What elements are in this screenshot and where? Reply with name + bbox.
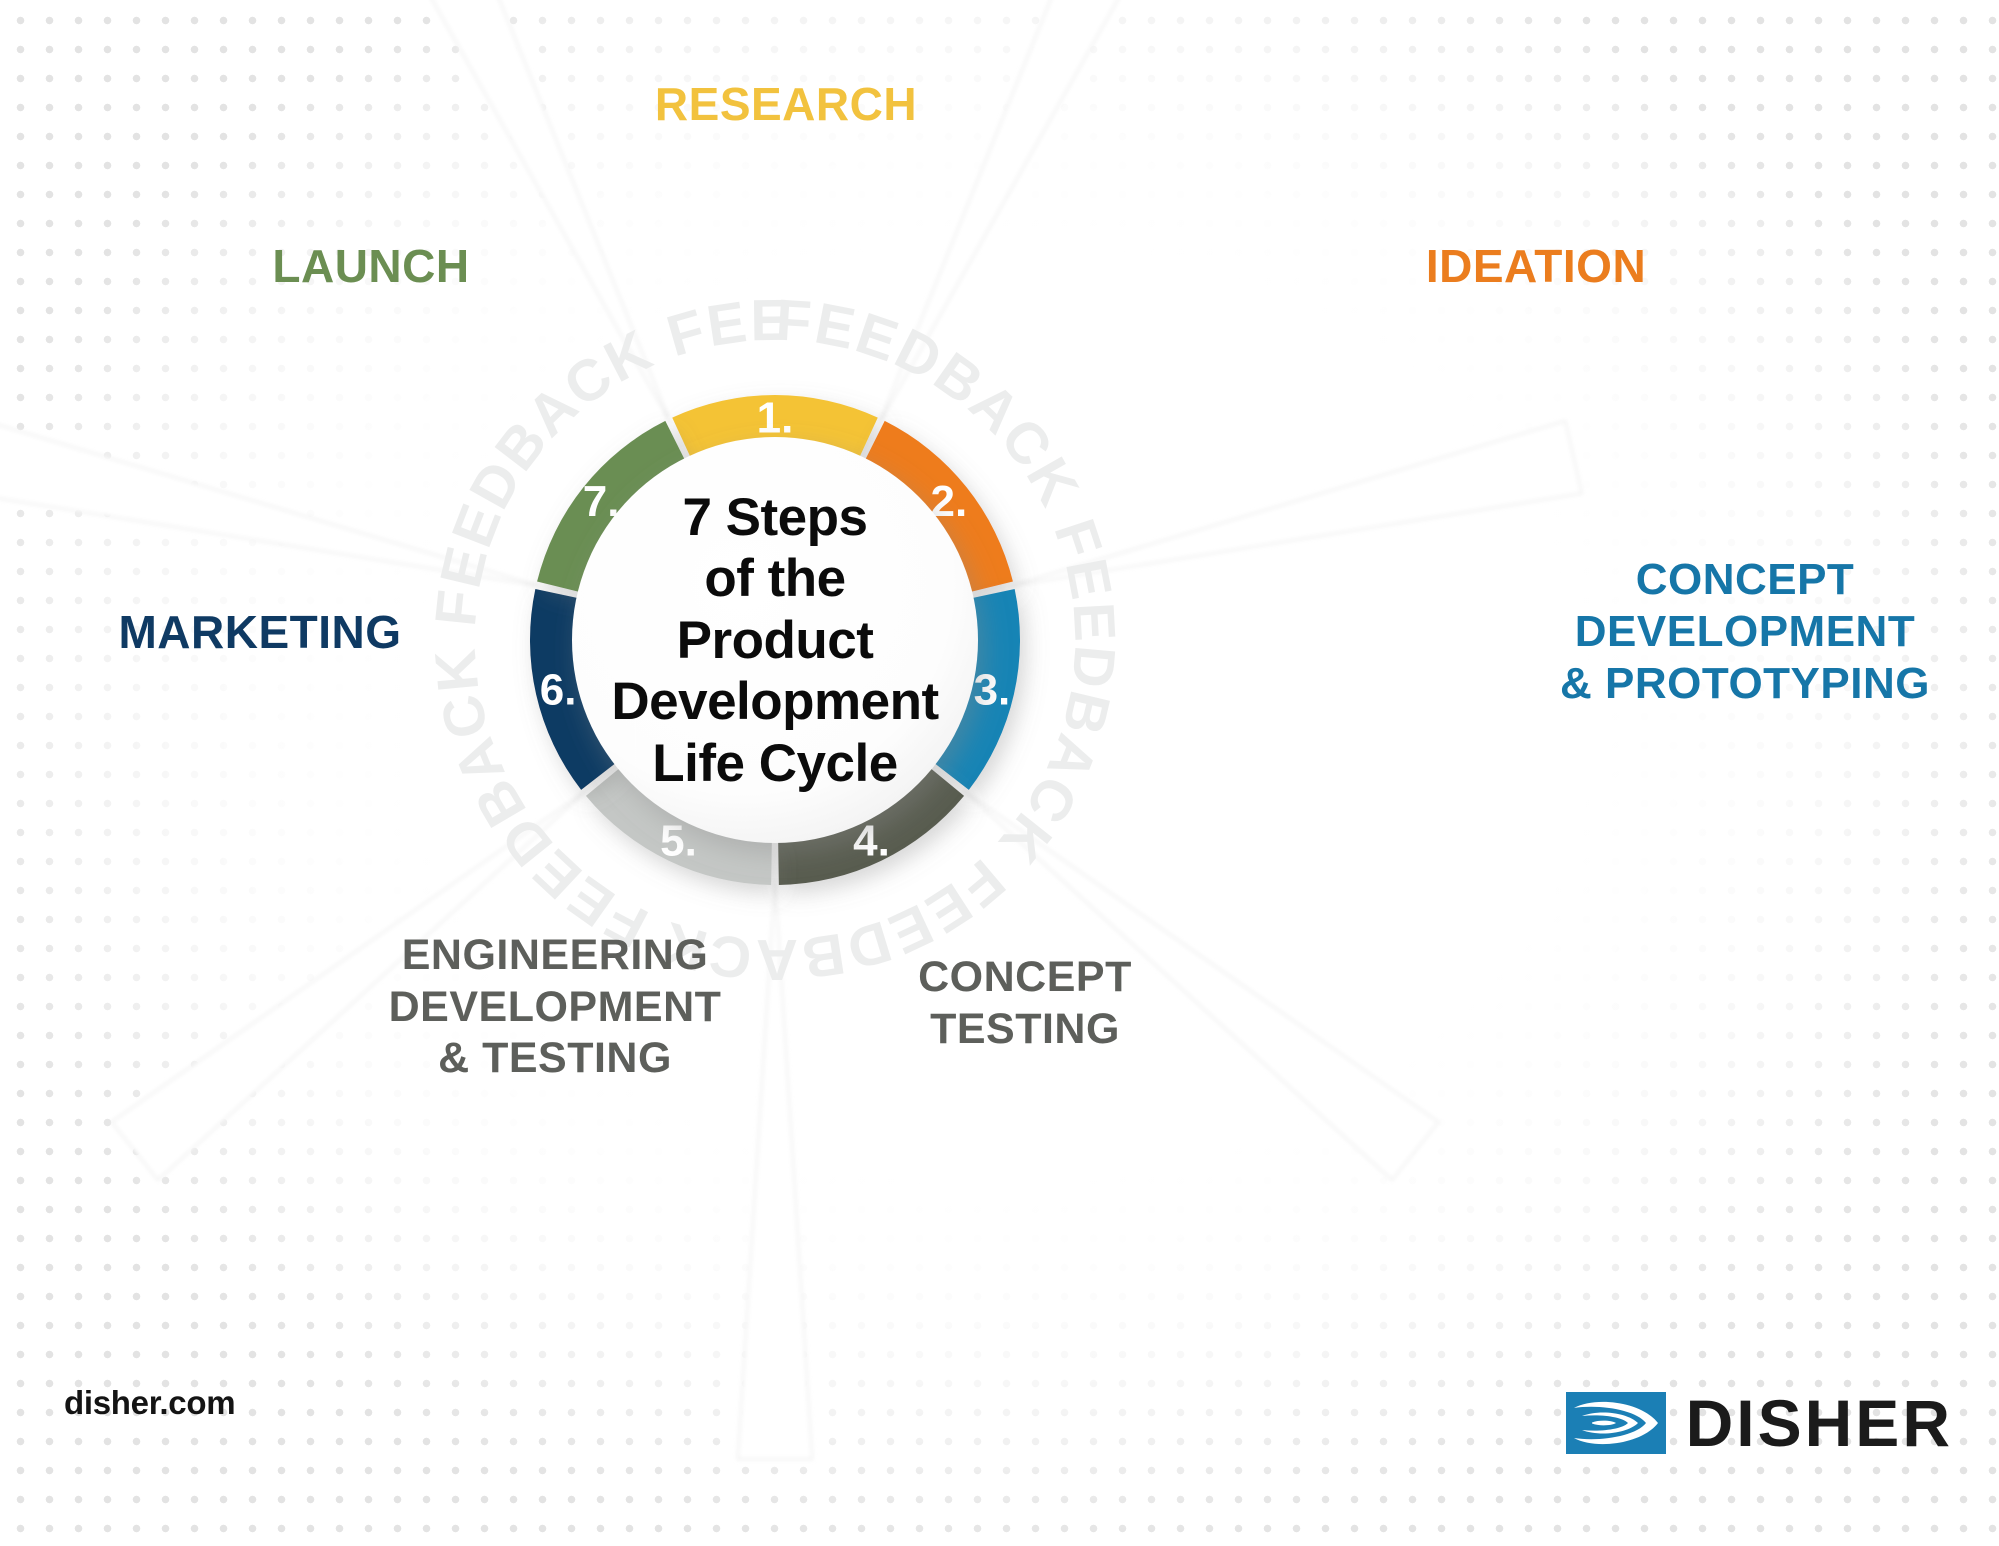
label-concept-development-line-2: DEVELOPMENT: [1490, 606, 1999, 658]
center-title-line-5: Life Cycle: [652, 733, 897, 794]
center-title-line-1: 7 Steps: [682, 487, 867, 548]
label-concept-testing-line-2: TESTING: [830, 1004, 1220, 1056]
disher-logo: DISHER: [1566, 1390, 1953, 1456]
site-url[interactable]: disher.com: [64, 1384, 235, 1422]
label-launch: LAUNCH: [186, 242, 556, 292]
disher-wordmark: DISHER: [1686, 1390, 1953, 1456]
label-concept-testing: CONCEPT TESTING: [830, 952, 1220, 1055]
label-engineering-line-1: ENGINEERING: [320, 930, 790, 982]
label-concept-development-line-1: CONCEPT: [1490, 554, 1999, 606]
label-concept-development-line-3: & PROTOTYPING: [1490, 658, 1999, 710]
disher-swoosh-logo-icon: [1566, 1392, 1666, 1454]
center-title: 7 Steps of the Product Development Life …: [570, 378, 980, 903]
label-concept-testing-line-1: CONCEPT: [830, 952, 1220, 1004]
label-engineering-line-2: DEVELOPMENT: [320, 982, 790, 1034]
label-concept-development: CONCEPT DEVELOPMENT & PROTOTYPING: [1490, 554, 1999, 710]
label-ideation: IDEATION: [1326, 242, 1746, 292]
product-lifecycle-wheel: FEEDBACK FEEDBACK FEEDBACK FEEDBACK FEED…: [0, 0, 1999, 1546]
label-research: RESEARCH: [606, 80, 966, 130]
center-title-line-4: Development: [611, 671, 938, 732]
center-title-line-3: Product: [677, 610, 874, 671]
label-engineering-development: ENGINEERING DEVELOPMENT & TESTING: [320, 930, 790, 1085]
label-marketing: MARKETING: [60, 608, 460, 658]
label-engineering-line-3: & TESTING: [320, 1033, 790, 1085]
center-title-line-2: of the: [704, 548, 845, 609]
